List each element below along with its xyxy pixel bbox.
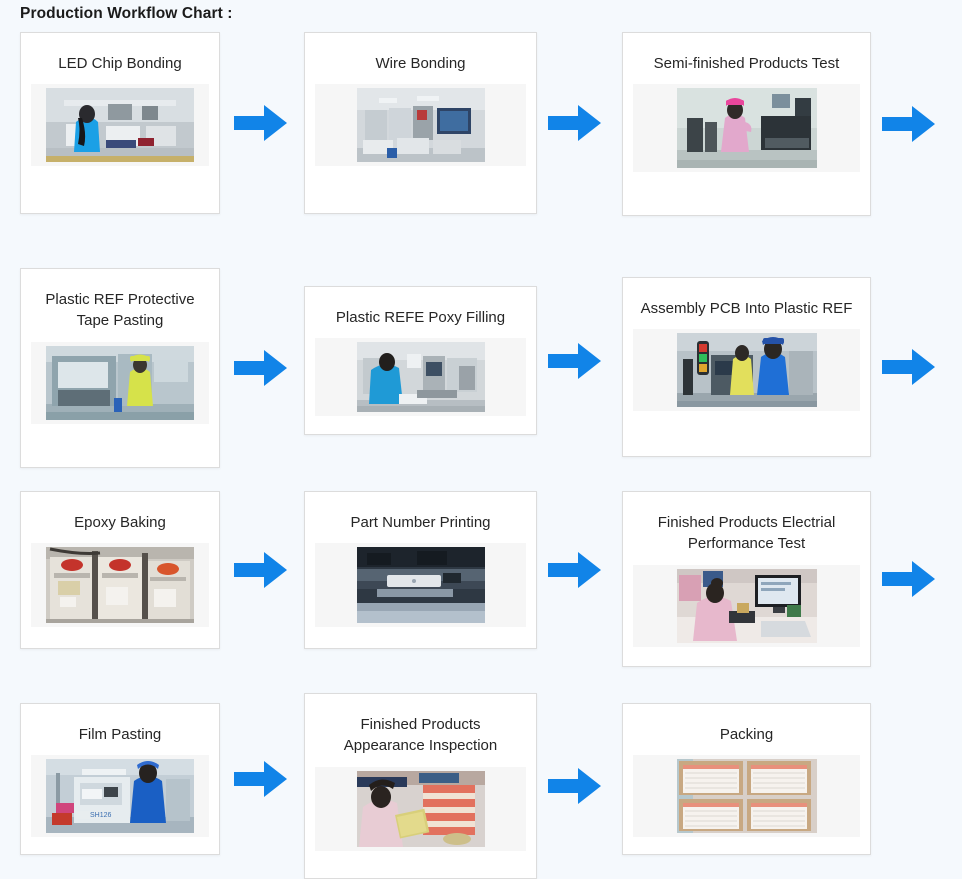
- workflow-step[interactable]: Part Number Printing: [304, 491, 537, 649]
- workflow-arrow: [232, 268, 290, 468]
- workflow-step[interactable]: Packing: [622, 703, 871, 855]
- step-label: Semi-finished Products Test: [654, 53, 840, 74]
- step-label: Film Pasting: [79, 724, 162, 745]
- workflow-grid: LED Chip Bonding: [0, 32, 962, 879]
- step-photo: [357, 771, 485, 847]
- workflow-arrow: [546, 491, 604, 649]
- workflow-step[interactable]: Semi-finished Products Test: [622, 32, 871, 216]
- step-label: Finished Products Appearance Inspection: [319, 714, 522, 757]
- step-label: Plastic REFE Poxy Filling: [336, 307, 505, 328]
- step-photo-band: [633, 755, 860, 837]
- workflow-step[interactable]: Wire Bonding: [304, 32, 537, 214]
- right-arrow-icon: [548, 341, 602, 381]
- right-arrow-icon: [882, 347, 936, 387]
- workflow-arrow: [232, 32, 290, 214]
- step-label: Epoxy Baking: [74, 512, 166, 533]
- workflow-arrow: [546, 32, 604, 214]
- workflow-step[interactable]: LED Chip Bonding: [20, 32, 220, 214]
- right-arrow-icon: [548, 550, 602, 590]
- step-photo: [677, 759, 817, 833]
- workflow-arrow: [880, 32, 938, 216]
- workflow-step[interactable]: Plastic REFE Poxy Filling: [304, 286, 537, 435]
- step-photo-band: [633, 84, 860, 172]
- step-photo: SH126: [46, 759, 194, 833]
- page-title: Production Workflow Chart :: [20, 5, 233, 23]
- workflow-step[interactable]: Assembly PCB Into Plastic REF: [622, 277, 871, 457]
- step-photo-band: [633, 565, 860, 647]
- workflow-step[interactable]: Plastic REF Protective Tape Pasting: [20, 268, 220, 468]
- right-arrow-icon: [882, 104, 936, 144]
- step-photo: [46, 88, 194, 162]
- step-photo-band: [31, 543, 209, 627]
- workflow-arrow: [880, 277, 938, 457]
- step-label: Part Number Printing: [350, 512, 490, 533]
- workflow-step[interactable]: Finished Products Electrial Performance …: [622, 491, 871, 667]
- workflow-step[interactable]: Finished Products Appearance Inspection: [304, 693, 537, 879]
- step-photo: [677, 569, 817, 643]
- right-arrow-icon: [234, 348, 288, 388]
- workflow-arrow: [546, 693, 604, 879]
- step-photo: [357, 342, 485, 412]
- workflow-row: Film Pasting: [0, 703, 962, 879]
- step-photo: [46, 547, 194, 623]
- right-arrow-icon: [234, 550, 288, 590]
- right-arrow-icon: [234, 103, 288, 143]
- step-photo: [677, 88, 817, 168]
- step-photo-band: [31, 342, 209, 424]
- step-photo-band: [315, 84, 526, 166]
- workflow-arrow: [232, 703, 290, 855]
- right-arrow-icon: [548, 103, 602, 143]
- step-photo-band: [31, 84, 209, 166]
- step-photo-band: [315, 543, 526, 627]
- step-label: LED Chip Bonding: [58, 53, 181, 74]
- workflow-step[interactable]: Film Pasting: [20, 703, 220, 855]
- step-photo-band: [315, 767, 526, 851]
- step-label: Wire Bonding: [375, 53, 465, 74]
- step-photo-band: [315, 338, 526, 416]
- workflow-arrow: [880, 491, 938, 667]
- workflow-arrow: [232, 491, 290, 649]
- step-photo: [357, 547, 485, 623]
- workflow-row: LED Chip Bonding: [0, 32, 962, 248]
- step-label: Assembly PCB Into Plastic REF: [641, 298, 853, 319]
- step-label: Finished Products Electrial Performance …: [637, 512, 856, 555]
- step-label: Plastic REF Protective Tape Pasting: [35, 289, 205, 332]
- step-photo: [46, 346, 194, 420]
- workflow-row: Plastic REF Protective Tape Pasting: [0, 268, 962, 472]
- step-photo: [357, 88, 485, 162]
- workflow-row: Epoxy Baking: [0, 491, 962, 684]
- step-photo-band: SH126: [31, 755, 209, 837]
- step-photo: [677, 333, 817, 407]
- right-arrow-icon: [548, 766, 602, 806]
- workflow-step[interactable]: Epoxy Baking: [20, 491, 220, 649]
- step-label: Packing: [720, 724, 773, 745]
- svg-text:SH126: SH126: [90, 812, 112, 819]
- step-photo-band: [633, 329, 860, 411]
- workflow-arrow: [546, 286, 604, 435]
- right-arrow-icon: [882, 559, 936, 599]
- right-arrow-icon: [234, 759, 288, 799]
